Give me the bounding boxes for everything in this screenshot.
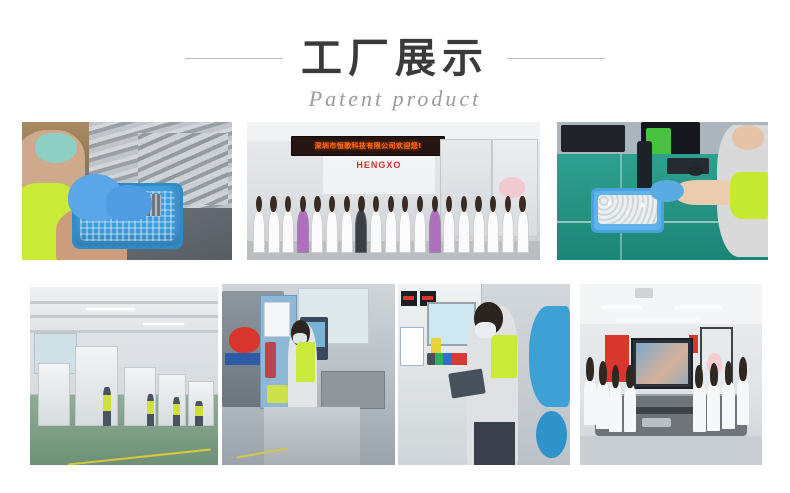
staff-member bbox=[443, 210, 455, 253]
staff-member bbox=[385, 210, 397, 253]
photo-gallery: 深圳市恒歌科技有限公司欢迎您! HENGXO bbox=[0, 0, 790, 493]
staff-member bbox=[429, 210, 441, 253]
attendee bbox=[722, 382, 735, 429]
photo-quality-record[interactable] bbox=[398, 284, 570, 465]
cnc-paper-panel bbox=[264, 302, 290, 337]
digital-meter-1 bbox=[401, 291, 416, 305]
cnc-button-column bbox=[265, 342, 275, 378]
attendee bbox=[693, 385, 706, 432]
machine-unit bbox=[38, 363, 70, 426]
ceiling-projector bbox=[635, 288, 653, 299]
staff-member bbox=[414, 210, 426, 253]
photo-meeting-room[interactable] bbox=[580, 284, 762, 465]
staff-member bbox=[268, 210, 280, 253]
foreground-wall bbox=[580, 436, 762, 465]
staff-member bbox=[458, 210, 470, 253]
staff-member bbox=[473, 210, 485, 253]
presentation-display bbox=[631, 338, 693, 389]
metal-workpiece-crate bbox=[264, 407, 361, 465]
warning-label bbox=[431, 338, 441, 352]
indicator-button-row bbox=[427, 353, 472, 366]
hi-vis-vest bbox=[296, 342, 315, 382]
staff-member bbox=[341, 210, 353, 253]
photo-microscope-inspection-scene bbox=[557, 122, 768, 260]
staff-group bbox=[247, 177, 540, 260]
machine-brand-logo bbox=[229, 327, 260, 352]
wall-logo-text: HENGXO bbox=[356, 160, 401, 170]
staff-member bbox=[326, 210, 338, 253]
staff-member bbox=[487, 210, 499, 253]
ceiling-lamp bbox=[143, 323, 184, 325]
hi-vis-vest bbox=[730, 172, 768, 219]
gloved-hand-right bbox=[106, 185, 152, 221]
small-parts bbox=[598, 195, 658, 224]
attendee bbox=[596, 382, 609, 429]
ceiling-lamp bbox=[675, 306, 722, 309]
photo-quality-record-scene bbox=[398, 284, 570, 465]
staff-member bbox=[253, 210, 265, 253]
line-worker bbox=[103, 387, 111, 426]
face-mask bbox=[35, 133, 77, 163]
table-cable-strip bbox=[635, 407, 697, 414]
staff-member bbox=[517, 210, 529, 253]
photo-assembly-tray-scene bbox=[22, 122, 232, 260]
photo-cnc-machining-scene bbox=[222, 284, 395, 465]
photo-cnc-machining[interactable] bbox=[222, 284, 395, 465]
staff-member bbox=[297, 210, 309, 253]
staff-member bbox=[355, 210, 367, 253]
work-bench-cabinet bbox=[321, 371, 385, 409]
factory-showcase-page: 工厂展示 Patent product bbox=[0, 0, 790, 493]
computer-mouse bbox=[688, 166, 703, 176]
attendee bbox=[584, 378, 597, 425]
attendee bbox=[707, 384, 720, 431]
worker-trousers bbox=[474, 422, 515, 465]
machine-unit bbox=[75, 346, 118, 426]
photo-meeting-room-scene bbox=[580, 284, 762, 465]
line-worker bbox=[147, 394, 155, 426]
table-keyboard bbox=[642, 418, 671, 427]
ceiling-beam bbox=[30, 330, 218, 333]
attendee bbox=[624, 385, 637, 432]
operator-head bbox=[732, 125, 764, 150]
posted-document bbox=[400, 327, 424, 365]
ceiling-lamp bbox=[86, 308, 135, 310]
photo-microscope-inspection[interactable] bbox=[557, 122, 768, 260]
photo-production-line-scene bbox=[30, 287, 218, 465]
ceiling-beam bbox=[30, 315, 218, 318]
attendee bbox=[609, 385, 622, 432]
photo-assembly-tray[interactable] bbox=[22, 122, 232, 260]
blue-machine-housing-lower bbox=[536, 411, 567, 458]
gloved-hand bbox=[650, 180, 684, 202]
monitor-left bbox=[561, 125, 624, 153]
staff-member bbox=[502, 210, 514, 253]
safety-stickers bbox=[267, 385, 288, 403]
machine-unit bbox=[158, 374, 186, 426]
photo-company-group[interactable]: 深圳市恒歌科技有限公司欢迎您! HENGXO bbox=[247, 122, 540, 260]
led-banner-text: 深圳市恒歌科技有限公司欢迎您! bbox=[315, 141, 422, 151]
ceiling-lamp bbox=[602, 306, 642, 309]
photo-production-line[interactable] bbox=[30, 287, 218, 465]
ceiling-lamp bbox=[616, 318, 700, 321]
attendee bbox=[737, 378, 750, 425]
wall-company-logo: HENGXO bbox=[341, 159, 417, 170]
led-welcome-banner: 深圳市恒歌科技有限公司欢迎您! bbox=[291, 136, 445, 156]
staff-member bbox=[399, 210, 411, 253]
ceiling-beam bbox=[30, 301, 218, 304]
staff-member bbox=[370, 210, 382, 253]
line-worker bbox=[195, 401, 203, 426]
staff-member bbox=[282, 210, 294, 253]
blue-machine-housing bbox=[529, 306, 570, 407]
staff-member bbox=[311, 210, 323, 253]
photo-company-group-scene: 深圳市恒歌科技有限公司欢迎您! HENGXO bbox=[247, 122, 540, 260]
line-worker bbox=[173, 397, 181, 425]
display-screen-content bbox=[636, 343, 688, 384]
hi-vis-vest bbox=[491, 335, 517, 378]
